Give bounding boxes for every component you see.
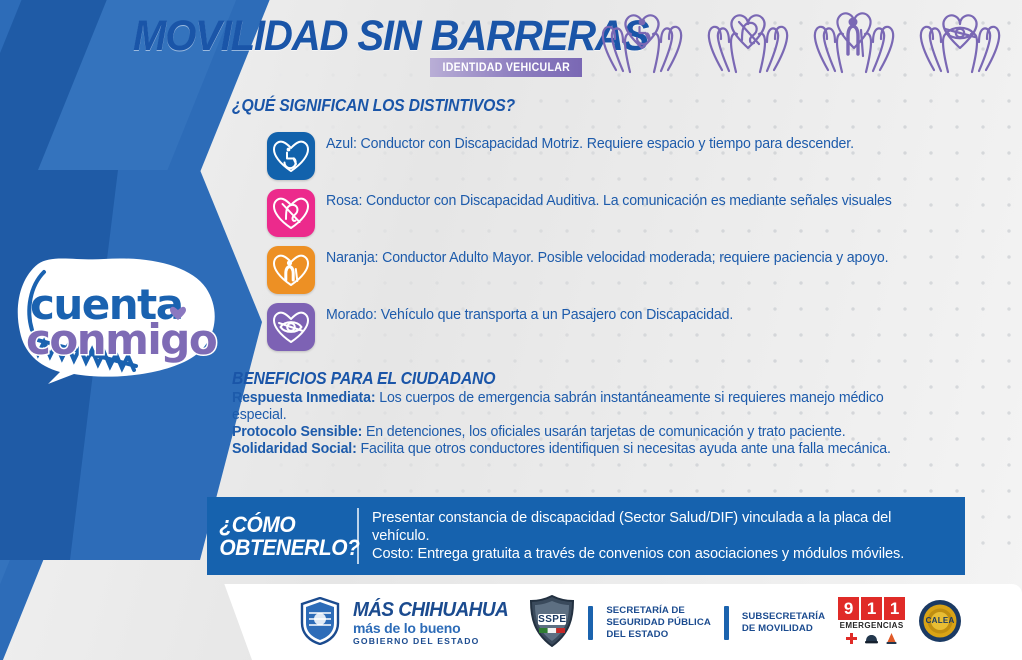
heart-elderly-icon — [272, 252, 310, 288]
chihuahua-shield-icon — [300, 597, 340, 650]
list-item: Azul: Conductor con Discapacidad Motriz.… — [267, 132, 957, 180]
emergencias-911-logo: 9 1 1 EMERGENCIAS — [838, 597, 905, 649]
list-item-text: Azul: Conductor con Discapacidad Motriz.… — [326, 132, 854, 153]
emergencias-icon-row — [846, 631, 897, 649]
sspe-badge-text: SSPE — [529, 614, 575, 625]
list-item: Rosa: Conductor con Discapacidad Auditiv… — [267, 189, 957, 237]
como-obtenerlo-callout: ¿CÓMO OBTENERLO? Presentar constancia de… — [207, 497, 965, 575]
police-cap-icon — [865, 631, 878, 649]
callout-body: Presentar constancia de discapacidad (Se… — [372, 509, 965, 563]
logo-line-conmigo: conmigo — [26, 315, 216, 364]
footer-logo-row: MÁS CHIHUAHUA más de lo bueno GOBIERNO D… — [300, 592, 962, 654]
calea-seal-icon: CALEA — [918, 599, 962, 648]
list-item: Naranja: Conductor Adulto Mayor. Posible… — [267, 246, 957, 294]
mas-chihuahua-line2: más de lo bueno — [353, 621, 516, 635]
callout-body-line2: Costo: Entrega gratuita a través de conv… — [372, 545, 951, 563]
subtitle-bar: IDENTIDAD VEHICULAR — [430, 58, 582, 77]
header-icon-row — [596, 8, 1006, 76]
benefit-text: En detenciones, los oficiales usarán tar… — [362, 424, 845, 440]
secretaria-line2: SEGURIDAD PÚBLICA — [606, 617, 711, 629]
benefit-label: Solidaridad Social: — [232, 441, 357, 457]
footer-separator — [724, 606, 729, 640]
infographic-poster: MOVILIDAD SIN BARRERAS IDENTIDAD VEHICUL… — [0, 0, 1022, 660]
heart-wheelchair-icon — [272, 138, 310, 174]
page-subtitle: IDENTIDAD VEHICULAR — [442, 62, 570, 74]
hands-heart-wheelchair-icon — [596, 8, 688, 76]
benefit-label: Protocolo Sensible: — [232, 424, 362, 440]
benefit-label: Respuesta Inmediata: — [232, 390, 375, 406]
callout-title-line2: OBTENERLO? — [219, 536, 349, 559]
subsecretaria-line1: SUBSECRETARÍA — [742, 611, 825, 623]
badge-chip-azul — [267, 132, 315, 180]
badge-chip-morado — [267, 303, 315, 351]
secretaria-line3: DEL ESTADO — [606, 629, 711, 641]
list-item-text: Rosa: Conductor con Discapacidad Auditiv… — [326, 189, 892, 210]
secretaria-label: SECRETARÍA DE SEGURIDAD PÚBLICA DEL ESTA… — [606, 605, 711, 640]
callout-body-line1: Presentar constancia de discapacidad (Se… — [372, 509, 951, 545]
list-item-text: Morado: Vehículo que transporta a un Pas… — [326, 303, 733, 324]
list-item: Respuesta Inmediata: Los cuerpos de emer… — [232, 390, 911, 424]
beneficios-list: Respuesta Inmediata: Los cuerpos de emer… — [232, 390, 932, 458]
heart-ear-icon — [272, 195, 310, 231]
emergencias-digit-3: 1 — [884, 597, 905, 620]
subsecretaria-line2: DE MOVILIDAD — [742, 623, 825, 635]
section-heading-beneficios: BENEFICIOS PARA EL CIUDADANO — [232, 368, 495, 389]
hands-heart-eye-icon — [914, 8, 1006, 76]
list-item-text: Naranja: Conductor Adulto Mayor. Posible… — [326, 246, 888, 267]
secretaria-line1: SECRETARÍA DE — [606, 605, 711, 617]
page-title: MOVILIDAD SIN BARRERAS — [133, 12, 648, 61]
callout-title: ¿CÓMO OBTENERLO? — [207, 513, 350, 560]
distintivos-list: Azul: Conductor con Discapacidad Motriz.… — [267, 132, 957, 351]
hands-heart-ear-icon — [702, 8, 794, 76]
calea-seal-text: CALEA — [918, 616, 962, 625]
poster-header: MOVILIDAD SIN BARRERAS IDENTIDAD VEHICUL… — [0, 0, 1022, 90]
heart-eye-icon — [272, 309, 310, 345]
list-item: Solidaridad Social: Facilita que otros c… — [232, 441, 911, 458]
emergencias-digit-2: 1 — [861, 597, 882, 620]
emergencias-digit-1: 9 — [838, 597, 859, 620]
mas-chihuahua-line3: GOBIERNO DEL ESTADO — [353, 637, 516, 646]
traffic-cone-icon — [886, 631, 897, 649]
badge-chip-naranja — [267, 246, 315, 294]
mas-chihuahua-wordmark: MÁS CHIHUAHUA más de lo bueno GOBIERNO D… — [353, 600, 516, 646]
footer-separator — [588, 606, 593, 640]
emergencias-label: EMERGENCIAS — [840, 621, 904, 630]
emergencias-digits: 9 1 1 — [838, 597, 905, 620]
sspe-badge-icon: SSPE — [529, 595, 575, 652]
badge-chip-rosa — [267, 189, 315, 237]
benefit-text: Facilita que otros conductores identifiq… — [357, 441, 891, 457]
list-item: Protocolo Sensible: En detenciones, los … — [232, 424, 911, 441]
mas-chihuahua-line1: MÁS CHIHUAHUA — [353, 600, 508, 620]
hands-heart-elderly-icon — [808, 8, 900, 76]
cuenta-conmigo-logo: cuenta conmigo — [8, 258, 238, 388]
subsecretaria-label: SUBSECRETARÍA DE MOVILIDAD — [742, 611, 825, 634]
callout-title-line1: ¿CÓMO — [219, 513, 349, 536]
red-cross-icon — [846, 631, 857, 649]
list-item: Morado: Vehículo que transporta a un Pas… — [267, 303, 957, 351]
heart-icon — [170, 306, 186, 326]
section-heading-distintivos: ¿QUÉ SIGNIFICAN LOS DISTINTIVOS? — [232, 95, 515, 116]
